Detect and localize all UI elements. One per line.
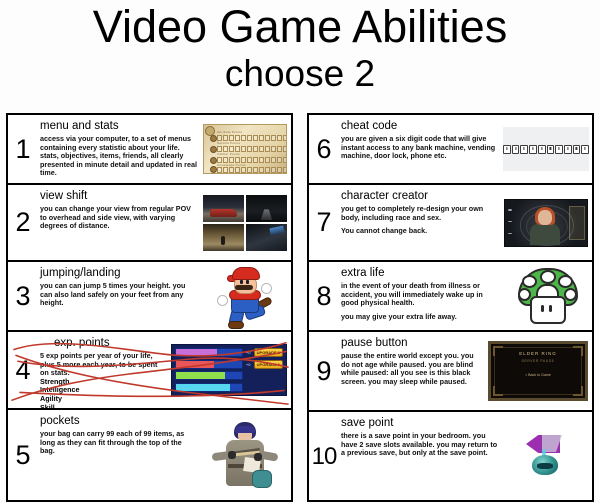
pause-title-label: SERVER PAUSE <box>491 359 585 363</box>
page-subtitle: choose 2 <box>0 52 600 96</box>
parchment-bullet-icon <box>210 135 217 142</box>
ability-row-exp-points[interactable]: 4 exp. points 5 exp points per year of y… <box>8 332 291 410</box>
abilities-columns: 1 menu and stats access via your compute… <box>0 113 600 502</box>
stat-bar-row: UPGRADE 1 <box>175 371 283 380</box>
adventurer-bag <box>252 470 272 488</box>
adventurer-glove-icon <box>228 451 236 459</box>
adventurer-glove-icon <box>254 453 262 461</box>
ability-number: 8 <box>309 262 339 330</box>
keypad-key[interactable] <box>503 145 511 154</box>
keypad-key[interactable] <box>573 145 581 154</box>
keypad-row <box>503 127 589 171</box>
parchment-bullet-icon <box>210 146 217 153</box>
abilities-column-left: 1 menu and stats access via your compute… <box>6 113 293 502</box>
pause-menu-item[interactable]: < Back to Game <box>491 373 585 377</box>
ability-text: save point there is a save point in your… <box>339 412 500 500</box>
keypad-key[interactable] <box>581 145 589 154</box>
stat-plus-label: +0 <box>245 350 252 355</box>
stat-bar <box>175 383 243 392</box>
page-title-block: Video Game Abilities choose 2 <box>0 0 600 96</box>
parchment-pip-row <box>217 146 287 150</box>
creator-indicator-dot-icon <box>508 233 511 235</box>
ability-text: view shift you can change your view from… <box>38 185 199 260</box>
keypad-key[interactable] <box>512 145 520 154</box>
green-1up-mushroom-image <box>500 262 592 330</box>
stat-bar <box>175 360 243 369</box>
ability-title: menu and stats <box>40 120 197 133</box>
keypad-key[interactable] <box>538 145 546 154</box>
ability-description: your bag can carry 99 each of 99 items, … <box>40 430 197 456</box>
ability-title: pause button <box>341 337 482 350</box>
ability-description: in the event of your death from illness … <box>341 282 498 308</box>
creator-torso <box>530 224 560 245</box>
mushroom-spot <box>518 288 531 301</box>
ability-text: exp. points 5 exp points per year of you… <box>38 332 167 408</box>
parchment-panel: Attribute Points Second Points <box>203 124 287 174</box>
screenshot-car-night <box>203 195 244 222</box>
mario-eye-icon <box>246 280 249 284</box>
keypad-key[interactable] <box>547 145 555 154</box>
pause-eyebrow-label: ELDER RING <box>491 351 585 356</box>
mario-glove-icon <box>261 283 272 294</box>
keypad-key[interactable] <box>520 145 528 154</box>
mario-glove-icon <box>217 295 228 306</box>
ability-text: menu and stats access via your computer,… <box>38 115 199 183</box>
parchment-label: Caliber Points <box>217 152 240 156</box>
parchment-pip-row <box>217 167 287 171</box>
ability-number: 2 <box>8 185 38 260</box>
page-title: Video Game Abilities <box>0 2 600 52</box>
screenshot-grid <box>203 195 287 251</box>
parchment-stats-menu-image: Attribute Points Second Points <box>199 115 291 183</box>
screenshot-fps-view <box>246 195 287 222</box>
character-creator-screen-image <box>500 185 592 260</box>
ability-text: character creator you get to completely … <box>339 185 500 260</box>
adventurer-with-bag-image <box>199 410 291 500</box>
parchment-bullet-icon <box>210 166 217 173</box>
mushroom-spot <box>558 275 573 288</box>
mario-jumping-image <box>199 262 291 330</box>
ability-title: extra life <box>341 267 498 280</box>
ability-stat-list: Strength Intelligence Agility Skill <box>40 378 165 410</box>
ability-number: 3 <box>8 262 38 330</box>
character-creator-screen <box>504 199 588 247</box>
mario-mustache-icon <box>235 285 253 290</box>
stat-bar-row: +0 UPGRADE 1 <box>175 360 283 369</box>
game-view-screenshots-grid-image <box>199 185 291 260</box>
ability-title: pockets <box>40 415 197 428</box>
save-point-flag-image <box>500 412 592 500</box>
ability-number: 4 <box>8 332 38 408</box>
mushroom-spot <box>564 288 577 301</box>
mushroom-stem <box>530 296 566 324</box>
ability-row-character-creator[interactable]: 7 character creator you get to completel… <box>309 185 592 262</box>
ability-title: exp. points <box>40 337 165 350</box>
ability-number: 5 <box>8 410 38 500</box>
ability-row-cheat-code[interactable]: 6 cheat code you are given a six digit c… <box>309 115 592 185</box>
pause-menu-screen: ELDER RING SERVER PAUSE < Back to Game <box>488 341 588 401</box>
pause-corner-ornament-icon <box>573 346 583 356</box>
ability-number: 6 <box>309 115 339 183</box>
stat-bars-panel: +0 UPGRADE 1 +0 UPGRADE 1 UPGRADE 1 <box>171 344 287 396</box>
ability-text: pause button pause the entire world exce… <box>339 332 484 410</box>
ability-title: save point <box>341 417 498 430</box>
ability-description: you can can jump 5 times your height. yo… <box>40 282 197 308</box>
parchment-bullet-icon <box>210 157 217 164</box>
stat-upgrade-bars-image: +0 UPGRADE 1 +0 UPGRADE 1 UPGRADE 1 <box>167 332 291 408</box>
ability-description-secondary: You cannot change back. <box>341 227 498 236</box>
ability-number: 10 <box>309 412 339 500</box>
ability-description: you can change your view from regular PO… <box>40 205 197 231</box>
ability-text: extra life in the event of your death fr… <box>339 262 500 330</box>
ability-number: 7 <box>309 185 339 260</box>
keypad-key[interactable] <box>564 145 572 154</box>
mario-eye-icon <box>240 280 243 284</box>
ability-description: there is a save point in your bedroom. y… <box>341 432 498 458</box>
ability-description: access via your computer, to a set of me… <box>40 135 197 178</box>
ability-number: 1 <box>8 115 38 183</box>
ability-number: 9 <box>309 332 339 410</box>
parchment-label: Second Points <box>217 141 240 145</box>
upgrade-button[interactable]: UPGRADE 1 <box>254 348 283 357</box>
creator-options-panel[interactable] <box>569 206 584 240</box>
ability-title: view shift <box>40 190 197 203</box>
pause-menu-screen-image: ELDER RING SERVER PAUSE < Back to Game <box>484 332 592 410</box>
ability-row-pause-button[interactable]: 9 pause button pause the entire world ex… <box>309 332 592 412</box>
ability-description: you are given a six digit code that will… <box>341 135 498 161</box>
ability-text: pockets your bag can carry 99 each of 99… <box>38 410 199 500</box>
stat-bar-row: UPGRADE 1 <box>175 383 283 392</box>
keypad-key[interactable] <box>529 145 537 154</box>
save-orb-icon <box>532 455 558 475</box>
upgrade-button[interactable]: UPGRADE 1 <box>254 360 283 369</box>
mushroom-eye-icon <box>549 305 552 312</box>
stat-bar <box>175 371 243 380</box>
adventurer-hair-front <box>235 426 255 433</box>
mushroom-spot <box>522 275 537 288</box>
mario-shoe-icon <box>228 321 244 329</box>
ability-description: pause the entire world except you. you d… <box>341 352 482 386</box>
screenshot-street-overhead <box>203 224 244 251</box>
mario-hat <box>232 267 260 280</box>
ability-title: character creator <box>341 190 498 203</box>
creator-indicator-dot-icon <box>508 209 511 211</box>
pause-corner-ornament-icon <box>493 346 503 356</box>
screenshot-side-view <box>246 224 287 251</box>
ability-row-pockets[interactable]: 5 pockets your bag can carry 99 each of … <box>8 410 291 500</box>
ability-description: 5 exp points per year of your life, plus… <box>40 352 165 378</box>
ability-description: you get to completely re-design your own… <box>341 205 498 222</box>
mario-figure <box>215 265 275 327</box>
mushroom-eye-icon <box>541 305 544 312</box>
ability-title: jumping/landing <box>40 267 197 280</box>
abilities-column-right: 6 cheat code you are given a six digit c… <box>307 113 594 502</box>
parchment-pip-row <box>217 135 287 139</box>
ability-row-jumping-landing[interactable]: 3 jumping/landing you can can jump 5 tim… <box>8 262 291 332</box>
ability-row-extra-life[interactable]: 8 extra life in the event of your death … <box>309 262 592 332</box>
ability-row-view-shift[interactable]: 2 view shift you can change your view fr… <box>8 185 291 262</box>
keypad-keys-image <box>500 115 592 183</box>
ability-text: cheat code you are given a six digit cod… <box>339 115 500 183</box>
ability-row-save-point[interactable]: 10 save point there is a save point in y… <box>309 412 592 500</box>
ability-row-menu-and-stats[interactable]: 1 menu and stats access via your compute… <box>8 115 291 185</box>
creator-indicator-dot-icon <box>508 221 511 223</box>
save-point-figure <box>524 433 568 479</box>
stat-plus-label: +0 <box>245 362 252 367</box>
stat-bar-row: +0 UPGRADE 1 <box>175 348 283 357</box>
pause-corner-ornament-icon <box>573 386 583 396</box>
stat-bar <box>175 348 243 357</box>
mushroom-figure <box>516 267 576 325</box>
ability-title: cheat code <box>341 120 498 133</box>
keypad-key[interactable] <box>555 145 563 154</box>
ability-description-secondary: you may give your extra life away. <box>341 313 498 322</box>
meme-page: Video Game Abilities choose 2 1 menu and… <box>0 0 600 503</box>
creator-head <box>538 210 552 226</box>
stat-item: Agility <box>40 395 165 404</box>
parchment-label: Attribute Points <box>217 130 242 134</box>
parchment-pip-row <box>217 157 287 161</box>
ability-text: jumping/landing you can can jump 5 times… <box>38 262 199 330</box>
pause-corner-ornament-icon <box>493 386 503 396</box>
adventurer-figure <box>208 420 282 490</box>
mushroom-spot <box>540 270 556 284</box>
